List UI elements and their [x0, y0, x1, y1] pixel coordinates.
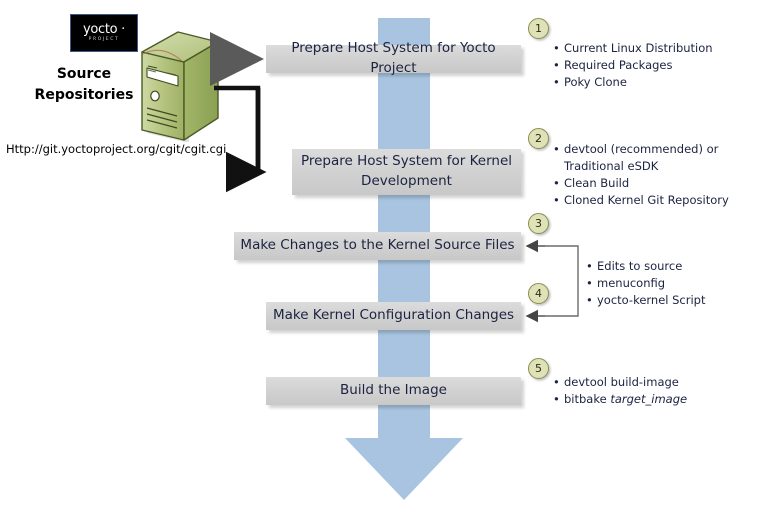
server-icon [136, 26, 222, 146]
bullet-item: Current Linux Distribution [553, 40, 713, 57]
yocto-logo-wordmark: yocto · [83, 23, 125, 36]
bullet-item-prefix: bitbake [564, 392, 610, 406]
bullet-item: Poky Clone [553, 74, 713, 91]
step-number-2: 2 [528, 128, 549, 149]
source-label-line1: Source [28, 64, 140, 85]
process-box-step-2-line2: Development [361, 172, 452, 192]
process-box-step-2-line1: Prepare Host System for Kernel [301, 152, 512, 172]
bullet-item: Clean Build [553, 175, 729, 192]
bullet-item-target-image: target_image [610, 392, 687, 406]
bullet-list-step-5: devtool build-image bitbake target_image [553, 374, 687, 408]
bullet-item: Cloned Kernel Git Repository [553, 192, 729, 209]
bullet-item: Edits to source [586, 258, 706, 275]
bullet-item: Required Packages [553, 57, 713, 74]
bullet-item: devtool (recommended) or [553, 141, 729, 158]
process-box-step-1[interactable]: Prepare Host System for Yocto Project [266, 45, 521, 73]
yocto-logo-subtext: PROJECT [89, 38, 120, 43]
source-label-line2: Repositories [28, 85, 140, 106]
bullet-item-continuation: Traditional eSDK [553, 158, 729, 175]
step-number-4: 4 [528, 283, 549, 304]
step-number-1: 1 [528, 18, 549, 39]
yocto-project-logo: yocto · PROJECT [70, 14, 138, 52]
diagram-canvas: yocto · PROJECT Source Repositories Http… [0, 0, 769, 517]
bullet-item: menuconfig [586, 275, 706, 292]
process-box-step-3[interactable]: Make Changes to the Kernel Source Files [234, 232, 521, 260]
flow-arrow-head [345, 438, 463, 500]
bullet-list-step-1: Current Linux Distribution Required Pack… [553, 40, 713, 91]
bullet-item: yocto-kernel Script [586, 292, 706, 309]
source-repositories-label: Source Repositories [28, 64, 140, 106]
bullet-list-step-2: devtool (recommended) or Traditional eSD… [553, 141, 729, 209]
process-box-step-4[interactable]: Make Kernel Configuration Changes [266, 302, 521, 330]
bullet-item: bitbake target_image [553, 391, 687, 408]
step-number-3: 3 [528, 213, 549, 234]
bullet-item: devtool build-image [553, 374, 687, 391]
process-box-step-5[interactable]: Build the Image [266, 377, 521, 405]
bullet-list-steps-3-4: Edits to source menuconfig yocto-kernel … [586, 258, 706, 309]
step-number-5: 5 [528, 358, 549, 379]
process-box-step-2[interactable]: Prepare Host System for Kernel Developme… [292, 149, 521, 195]
